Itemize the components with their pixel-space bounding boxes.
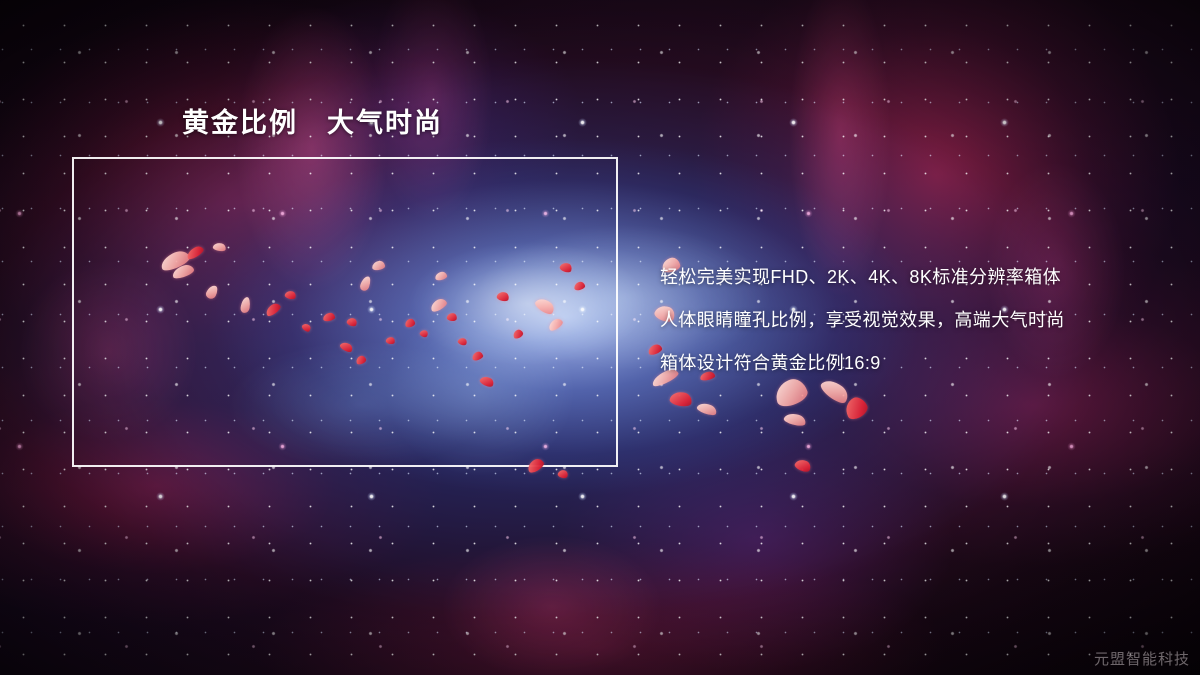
body-line-3: 箱体设计符合黄金比例16:9 — [660, 342, 1180, 385]
watermark: 元盟智能科技 — [1094, 648, 1190, 669]
body-line-1: 轻松完美实现FHD、2K、4K、8K标准分辨率箱体 — [660, 256, 1180, 299]
image-preview-frame — [72, 157, 618, 467]
page-title: 黄金比例 大气时尚 — [182, 101, 443, 140]
presentation-slide: 黄金比例 大气时尚 轻松完美实现FHD、2K、4K、8K标准分辨率箱体 人体眼睛… — [0, 0, 1200, 675]
body-copy: 轻松完美实现FHD、2K、4K、8K标准分辨率箱体 人体眼睛瞳孔比例，享受视觉效… — [660, 256, 1180, 385]
body-line-2: 人体眼睛瞳孔比例，享受视觉效果，高端大气时尚 — [660, 299, 1180, 342]
